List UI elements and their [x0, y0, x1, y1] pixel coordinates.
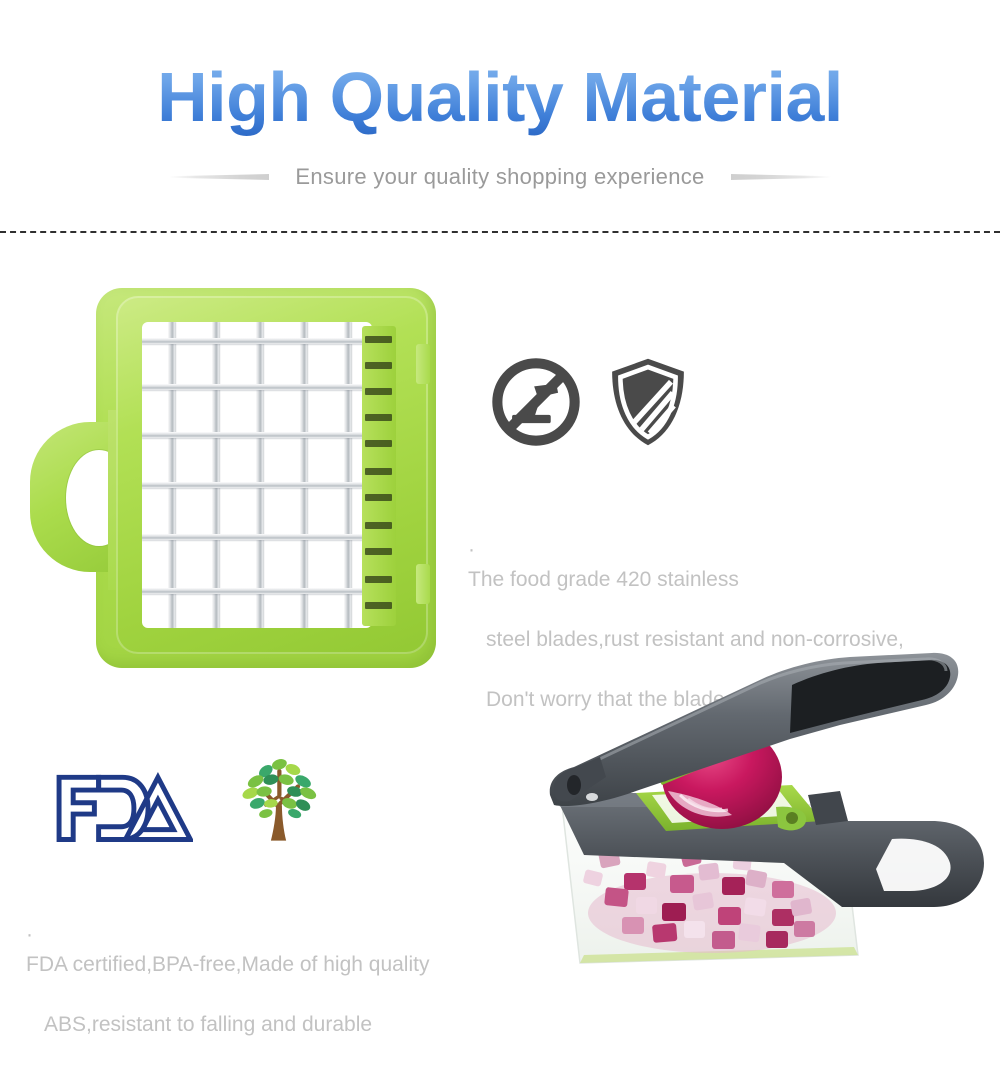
comb-slot	[365, 388, 392, 395]
comb-slot	[365, 468, 392, 475]
subtitle-row: Ensure your quality shopping experience	[0, 160, 1000, 194]
page-title: High Quality Material	[0, 54, 1000, 140]
bullet-marker: ·	[468, 538, 475, 561]
fda-logo	[52, 764, 193, 850]
steel-blade-vertical	[300, 322, 307, 628]
chopper-product-image	[540, 625, 1000, 997]
bullet-marker: ·	[26, 923, 33, 946]
steel-blade-horizontal	[142, 534, 372, 540]
comb-slot	[365, 414, 392, 421]
material-feature-line-2: ABS,resistant to falling and durable	[26, 1010, 586, 1040]
blade-grid-window	[142, 322, 372, 628]
blade-grid-frame	[116, 296, 428, 654]
comb-slot	[365, 522, 392, 529]
comb-slot	[365, 440, 392, 447]
comb-slot	[365, 336, 392, 343]
steel-blade-horizontal	[142, 588, 372, 594]
steel-blade-horizontal	[142, 384, 372, 390]
blade-grid-product-image	[22, 282, 442, 682]
header-banner: High Quality Material Ensure your qualit…	[0, 0, 1000, 232]
eco-tree-icon	[237, 750, 322, 850]
page-subtitle: Ensure your quality shopping experience	[295, 164, 704, 190]
steel-blade-vertical	[344, 322, 351, 628]
material-feature-text: · FDA certified,BPA-free,Made of high qu…	[26, 860, 586, 1070]
shield-icon	[608, 356, 688, 448]
steel-blade-horizontal	[142, 432, 372, 438]
subtitle-rule-left	[169, 174, 269, 180]
comb-slot	[365, 548, 392, 555]
blade-feature-line-1: The food grade 420 stainless	[468, 568, 739, 591]
steel-blade-vertical	[256, 322, 263, 628]
steel-blade-horizontal	[142, 338, 372, 344]
blade-feature-icons	[490, 352, 690, 452]
comb-slot	[365, 602, 392, 609]
steel-blade-vertical	[212, 322, 219, 628]
comb-slot	[365, 494, 392, 501]
subtitle-rule-right	[731, 174, 831, 180]
frame-side-tab	[416, 564, 430, 604]
steel-blade-horizontal	[142, 482, 372, 488]
material-feature-line-1: FDA certified,BPA-free,Made of high qual…	[26, 953, 429, 976]
dashed-divider	[0, 231, 1000, 233]
comb-slot	[365, 576, 392, 583]
frame-side-tab	[416, 344, 430, 384]
steel-blade-vertical	[168, 322, 175, 628]
no-bend-blade-icon	[490, 356, 582, 448]
comb-slot	[365, 362, 392, 369]
certification-logos	[52, 742, 322, 850]
blade-holder-comb	[362, 326, 396, 626]
